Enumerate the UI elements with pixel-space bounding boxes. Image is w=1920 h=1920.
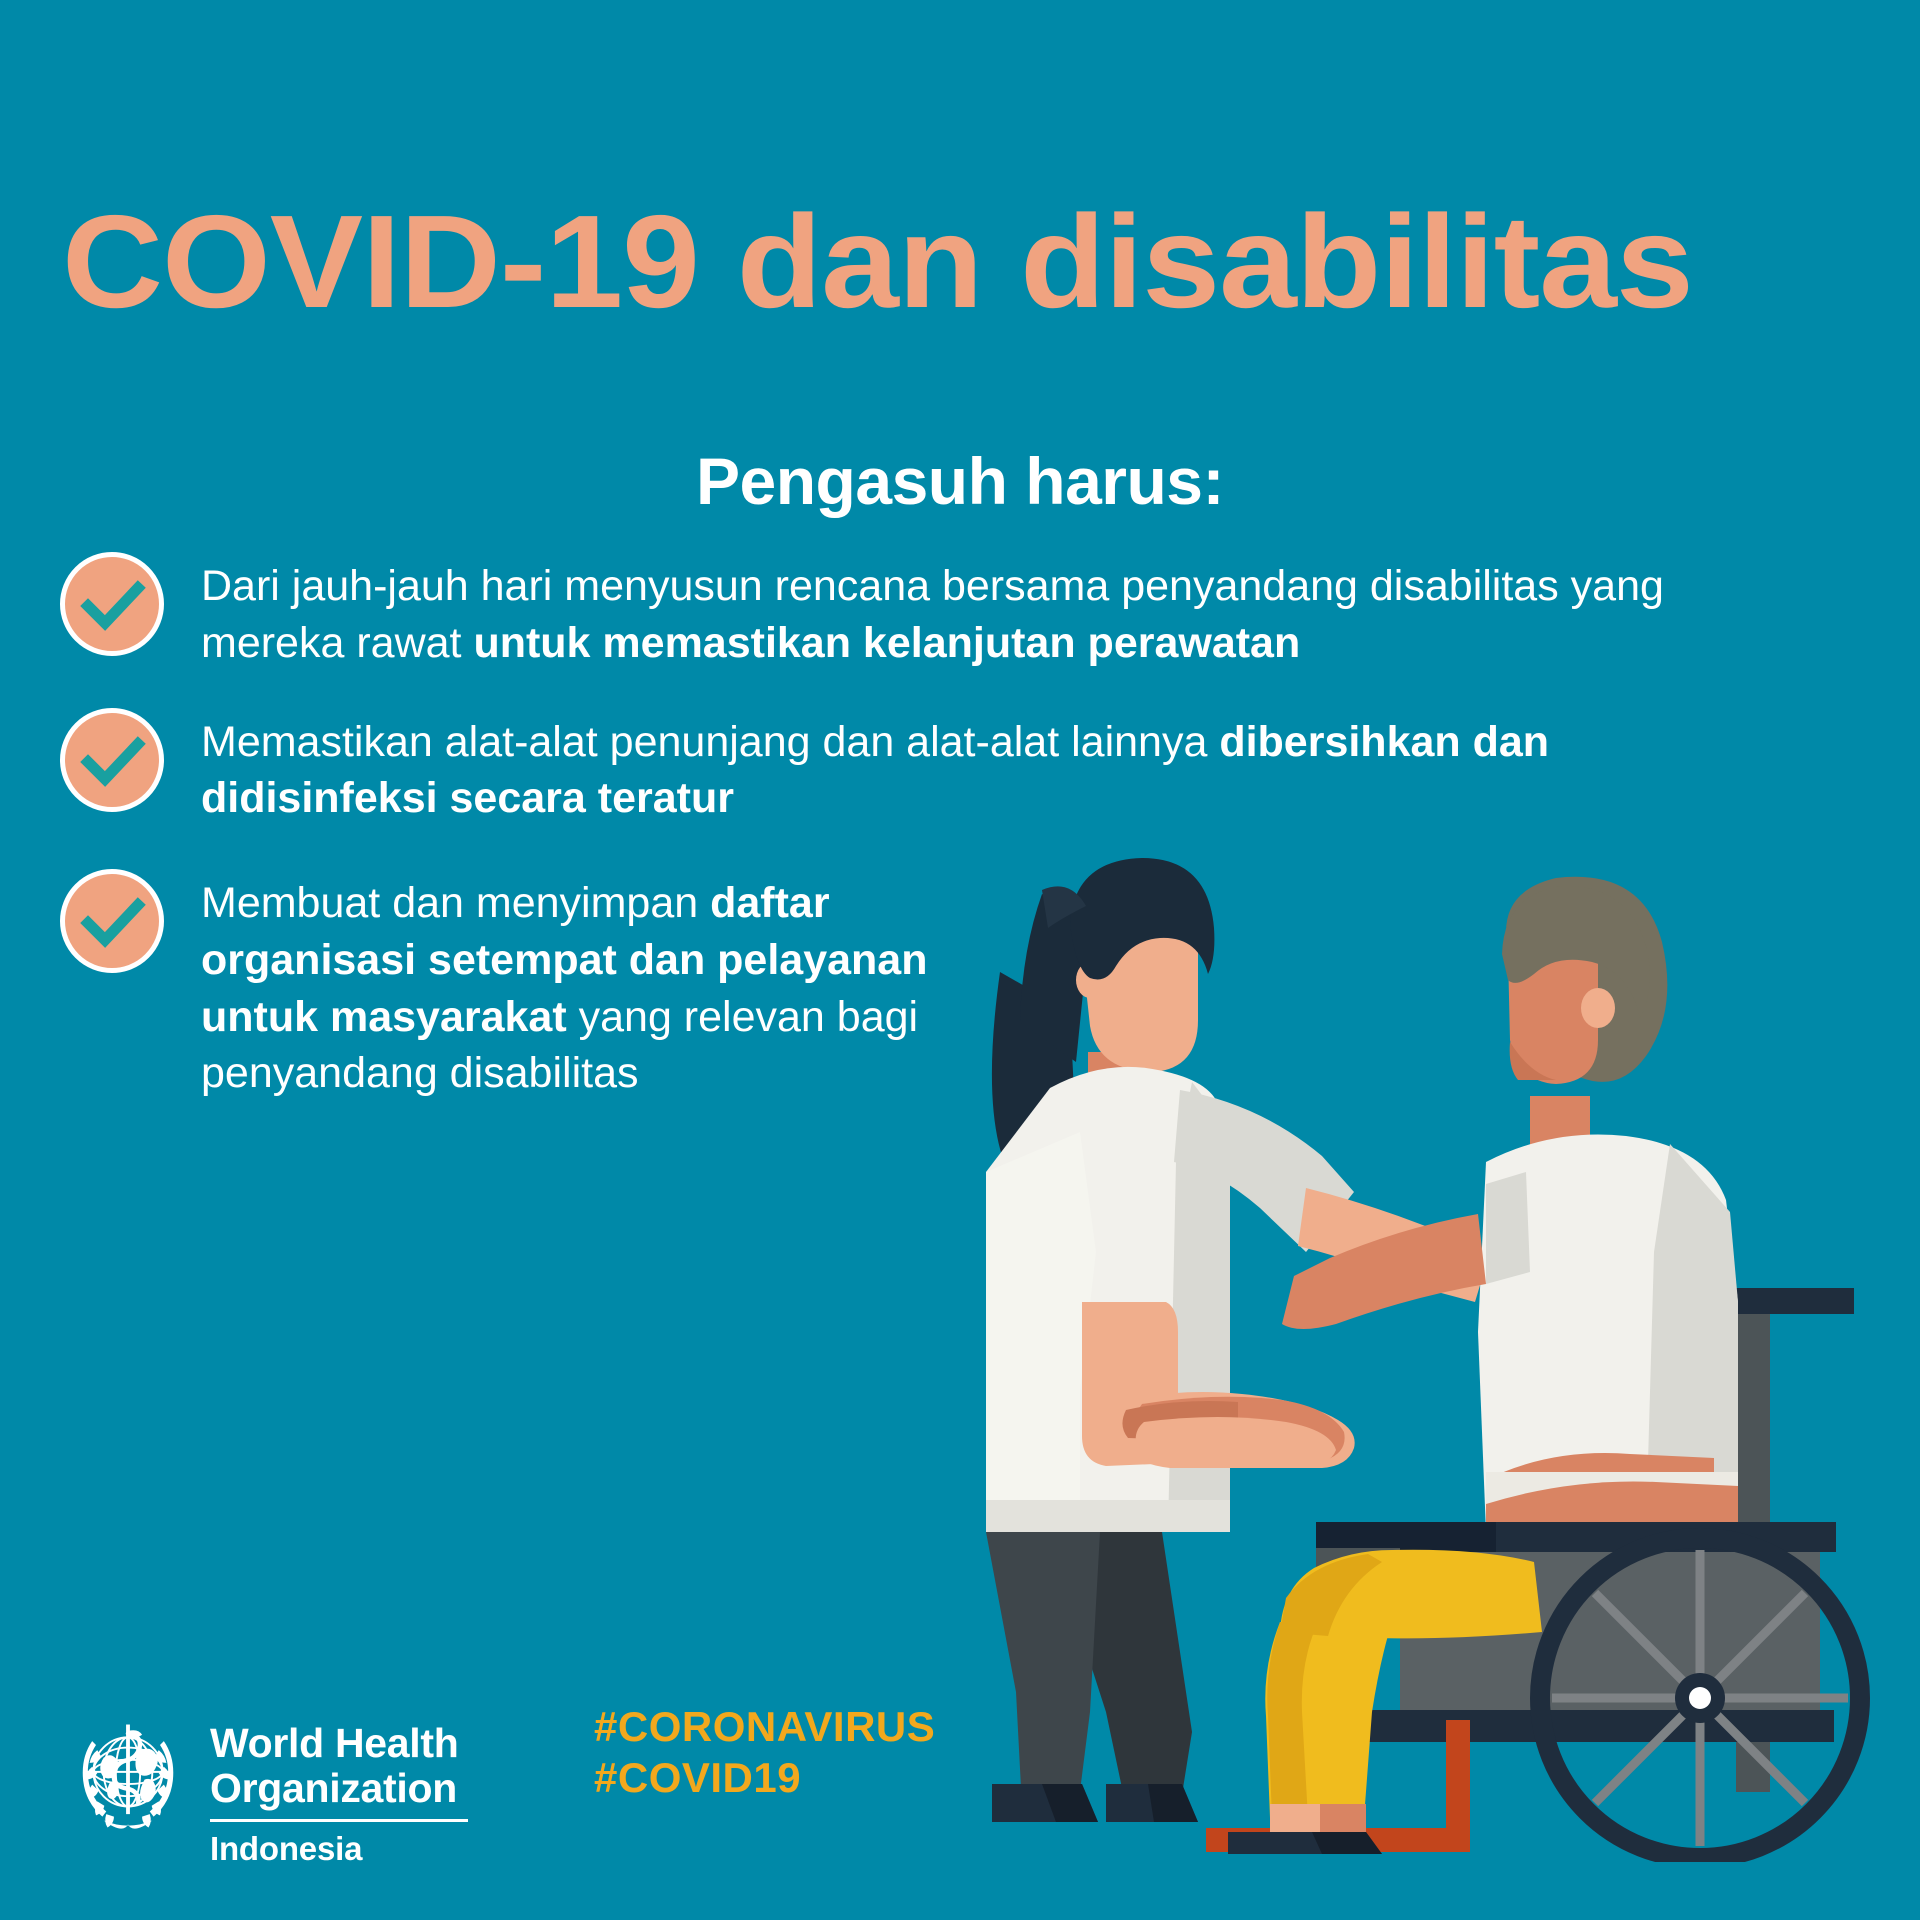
check-circle-icon — [60, 552, 164, 656]
list-item: Memastikan alat-alat penunjang dan alat-… — [60, 708, 1820, 828]
who-line-2: Organization — [210, 1766, 468, 1810]
check-circle-icon — [60, 708, 164, 812]
who-emblem-icon — [64, 1713, 192, 1841]
list-item-text: Dari jauh-jauh hari menyusun rencana ber… — [201, 552, 1761, 672]
hashtag-covid19: #COVID19 — [594, 1752, 935, 1804]
page-title: COVID-19 dan disabilitas — [62, 196, 1920, 328]
section-subtitle: Pengasuh harus: — [0, 443, 1920, 519]
who-line-1: World Health — [210, 1721, 468, 1765]
who-country-label: Indonesia — [210, 1830, 468, 1868]
who-logo: World Health Organization Indonesia — [64, 1713, 468, 1868]
list-item-text: Membuat dan menyimpan daftar organisasi … — [201, 869, 991, 1102]
who-wordmark: World Health Organization Indonesia — [210, 1713, 468, 1868]
list-item-text: Memastikan alat-alat penunjang dan alat-… — [201, 708, 1601, 828]
text-regular: Membuat dan menyimpan — [201, 879, 710, 927]
hashtag-coronavirus: #CORONAVIRUS — [594, 1701, 935, 1753]
poster-canvas: COVID-19 dan disabilitas Pengasuh harus:… — [0, 0, 1920, 1920]
footer: World Health Organization Indonesia — [64, 1713, 468, 1868]
text-regular: Memastikan alat-alat penunjang dan alat-… — [201, 718, 1219, 766]
divider — [210, 1819, 468, 1822]
text-bold: untuk memastikan kelanjutan perawatan — [473, 619, 1300, 667]
hashtag-block: #CORONAVIRUS #COVID19 — [594, 1701, 935, 1804]
check-circle-icon — [60, 869, 164, 973]
caregiver-and-wheelchair-user-illustration — [930, 832, 1920, 1862]
list-item: Dari jauh-jauh hari menyusun rencana ber… — [60, 552, 1820, 672]
